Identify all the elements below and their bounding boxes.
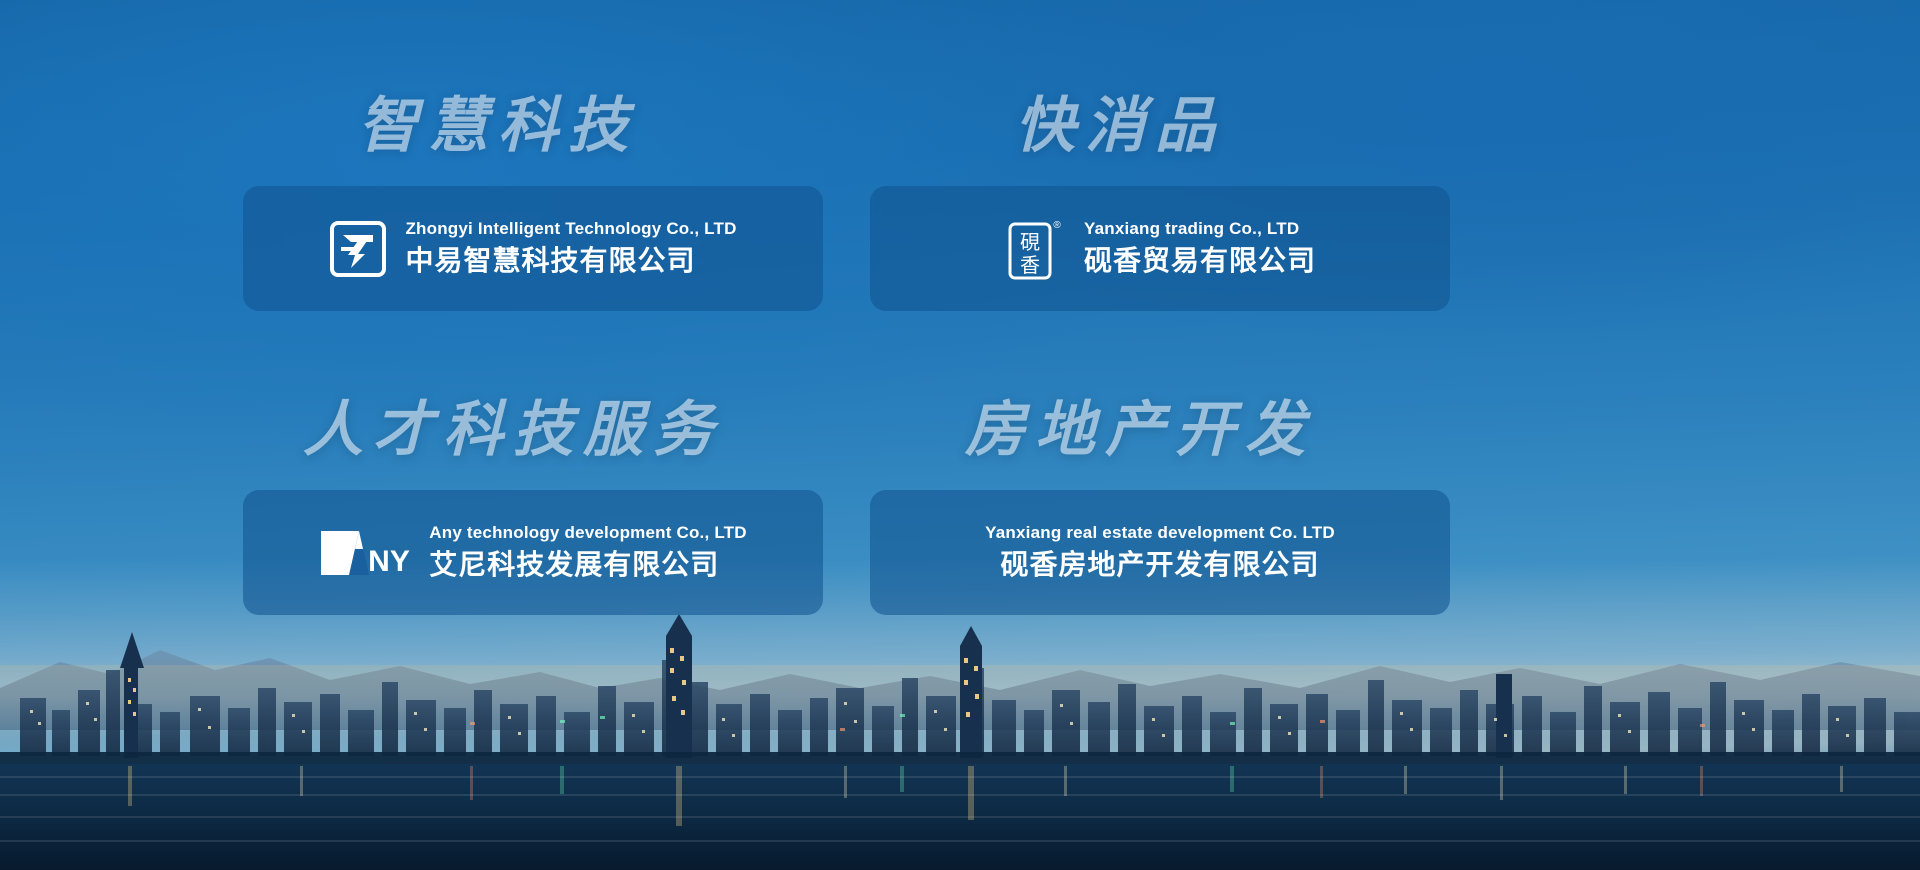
svg-text:香: 香 [1020, 254, 1040, 277]
section-title-real-estate: 房地产开发 [965, 400, 1450, 460]
company-card-yanxiang-trading[interactable]: 硯 香 ® Yanxiang trading Co., LTD 砚香贸易有限公司 [870, 186, 1450, 311]
company-card-zhongyi[interactable]: Zhongyi Intelligent Technology Co., LTD … [243, 186, 823, 311]
company-card-any[interactable]: NY Any technology development Co., LTD 艾… [243, 490, 823, 615]
zhongyi-logo [329, 220, 387, 278]
yanxiang-seal-logo: 硯 香 ® [1004, 216, 1066, 282]
business-segments-grid: 智慧科技 Zhongyi Intelligent Technology Co.,… [0, 0, 1920, 870]
company-name-cn: 中易智慧科技有限公司 [405, 243, 736, 279]
registered-mark: ® [1053, 220, 1061, 231]
company-names-any: Any technology development Co., LTD 艾尼科技… [429, 522, 746, 583]
segment-talent-services: 人才科技服务 NY Any technology development Co.… [243, 400, 823, 615]
company-name-en: Any technology development Co., LTD [429, 522, 746, 545]
company-names-yanxiang-real-estate: Yanxiang real estate development Co. LTD… [985, 522, 1335, 583]
company-name-cn: 艾尼科技发展有限公司 [429, 547, 746, 583]
company-name-en: Yanxiang real estate development Co. LTD [985, 522, 1335, 545]
any-logo: NY [319, 525, 411, 581]
company-name-en: Yanxiang trading Co., LTD [1084, 218, 1316, 241]
company-name-en: Zhongyi Intelligent Technology Co., LTD [405, 218, 736, 241]
any-logo-wordmark: NY [368, 545, 410, 578]
company-name-cn: 砚香贸易有限公司 [1084, 243, 1316, 279]
svg-text:硯: 硯 [1020, 232, 1040, 254]
company-card-yanxiang-real-estate[interactable]: Yanxiang real estate development Co. LTD… [870, 490, 1450, 615]
company-name-cn: 砚香房地产开发有限公司 [1000, 547, 1319, 583]
segment-smart-technology: 智慧科技 Zhongyi Intelligent Technology Co.,… [243, 96, 823, 311]
segment-real-estate: 房地产开发 Yanxiang real estate development C… [870, 400, 1450, 615]
segment-fmcg: 快消品 硯 香 ® Yanxiang trading Co., LTD 砚香贸易… [870, 96, 1450, 311]
company-names-yanxiang-trading: Yanxiang trading Co., LTD 砚香贸易有限公司 [1084, 218, 1316, 279]
section-title-fmcg: 快消品 [1015, 96, 1450, 156]
company-names-zhongyi: Zhongyi Intelligent Technology Co., LTD … [405, 218, 736, 279]
section-title-talent-services: 人才科技服务 [303, 400, 823, 460]
section-title-smart-technology: 智慧科技 [358, 96, 823, 156]
